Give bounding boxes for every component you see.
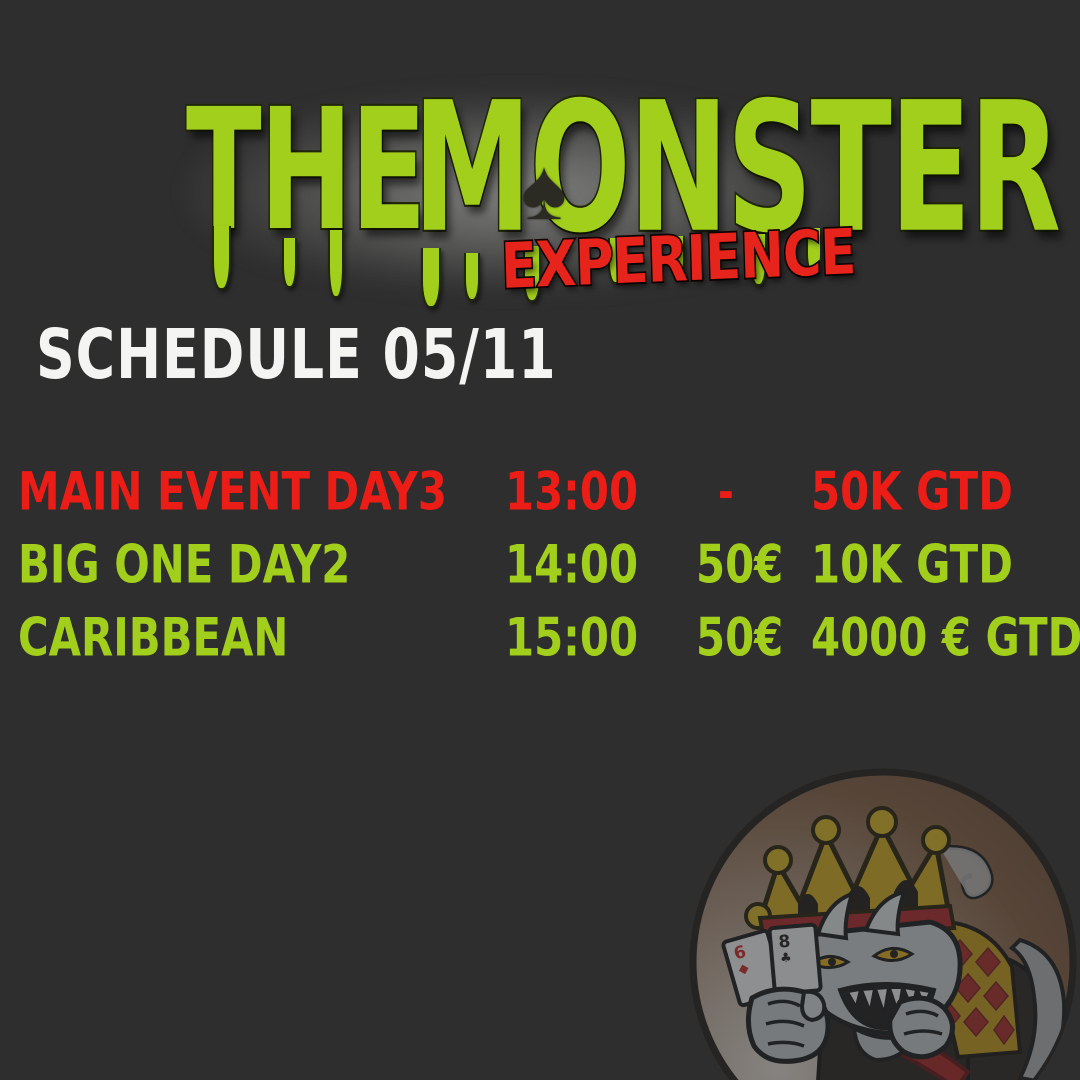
poster-canvas: THE MONSTER ♠ EXPERIENCE SCHEDULE 05/11 … [0, 0, 1080, 1080]
table-row: BIG ONE DAY2 14:00 50€ 10K GTD [18, 531, 1068, 604]
event-buyin: - [718, 458, 734, 528]
event-time: 14:00 [505, 531, 638, 601]
logo-drip [328, 230, 344, 298]
event-guarantee: 4000 € GTD [811, 604, 1080, 674]
brand-logo: THE MONSTER ♠ EXPERIENCE [178, 78, 858, 308]
logo-drip [212, 226, 231, 290]
joker-king-mascot-icon: 6 ◆ 8 ♣ [668, 752, 1080, 1080]
event-guarantee: 50K GTD [811, 458, 1013, 528]
event-buyin: 50€ [696, 531, 783, 601]
logo-drip [464, 253, 480, 301]
event-name: MAIN EVENT DAY3 [18, 458, 447, 528]
event-name: CARIBBEAN [18, 604, 288, 674]
table-row: CARIBBEAN 15:00 50€ 4000 € GTD [18, 604, 1068, 677]
page-title: SCHEDULE 05/11 [36, 322, 557, 390]
logo-word-experience: EXPERIENCE [500, 215, 856, 303]
event-name: BIG ONE DAY2 [18, 531, 350, 601]
svg-text:8: 8 [778, 932, 792, 953]
event-buyin: 50€ [696, 604, 783, 674]
event-time: 13:00 [505, 458, 638, 528]
logo-drip [282, 238, 297, 288]
logo-drip [421, 248, 441, 308]
event-guarantee: 10K GTD [811, 531, 1013, 601]
spade-icon: ♠ [509, 153, 579, 227]
svg-text:♣: ♣ [779, 951, 792, 967]
table-row: MAIN EVENT DAY3 13:00 - 50K GTD [18, 458, 1068, 531]
schedule-table: MAIN EVENT DAY3 13:00 - 50K GTD BIG ONE … [18, 458, 1068, 677]
event-time: 15:00 [505, 604, 638, 674]
